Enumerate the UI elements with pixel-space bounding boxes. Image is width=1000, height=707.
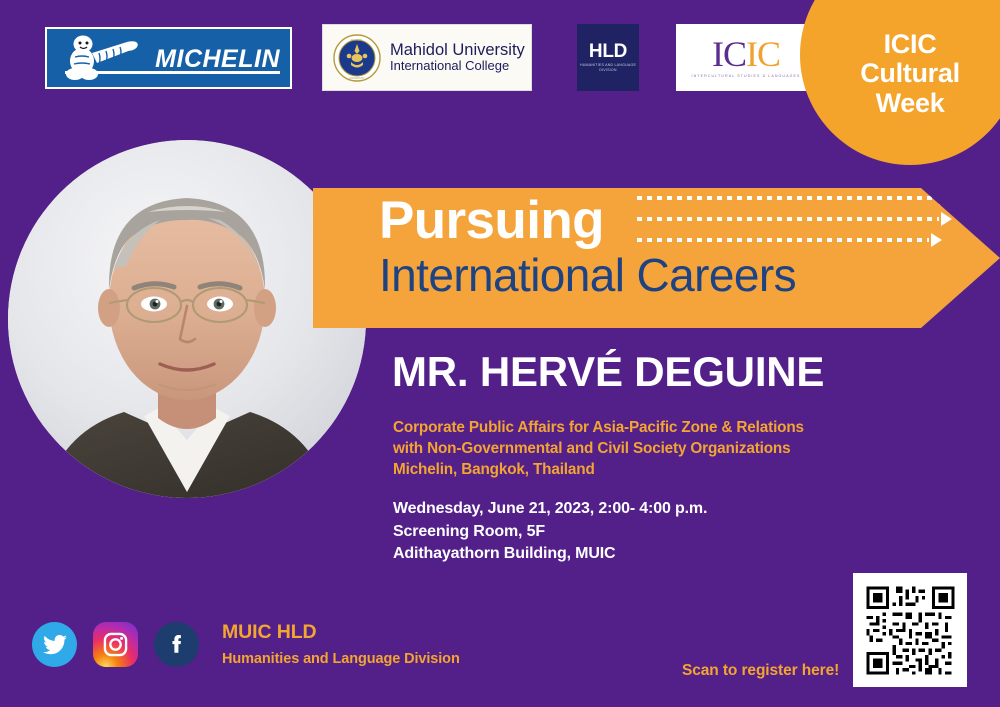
event-details: Wednesday, June 21, 2023, 2:00- 4:00 p.m… [393,498,707,566]
icic-wordmark: ICIC [712,37,780,71]
logo-hld: HLD HUMANITIES AND LANGUAGE DIVISION [577,24,639,91]
speaker-portrait [8,140,366,498]
social-link-facebook[interactable] [154,622,199,667]
dotted-arrow-icon-3 [931,233,942,247]
icic-wordmark-part2: IC [746,34,780,74]
social-link-instagram[interactable] [93,622,138,667]
mahidol-name-line1: Mahidol University [390,41,525,59]
michelin-wordmark: MICHELIN [155,45,280,74]
svg-text:MAHIDOL: MAHIDOL [351,38,363,42]
logo-icic: ICIC INTERCULTURAL STUDIES & LANGUAGES [676,24,816,91]
footer-text-block: MUIC HLD Humanities and Language Divisio… [222,622,460,667]
speaker-role-line2: with Non-Governmental and Civil Society … [393,439,804,460]
badge-line-3: Week [876,89,945,118]
badge-line-2: Cultural [860,59,960,88]
qr-code-card[interactable] [853,573,967,687]
logo-mahidol-university: MAHIDOL UNIVERSITY Mahidol University In… [322,24,532,91]
svg-text:UNIVERSITY: UNIVERSITY [349,76,365,80]
dotted-arrow-icon-1 [939,191,950,205]
icic-subtitle: INTERCULTURAL STUDIES & LANGUAGES [692,74,801,78]
dotted-line-2 [637,217,939,221]
banner-dotted-lines [637,196,947,259]
banner-title-primary: Pursuing [379,194,604,247]
twitter-bird-icon [42,632,68,658]
hld-subtitle: HUMANITIES AND LANGUAGE DIVISION [577,63,639,73]
icic-cultural-week-badge: ICIC Cultural Week [800,0,1000,165]
footer-division: Humanities and Language Division [222,651,460,667]
michelin-underline [65,71,280,74]
social-link-twitter[interactable] [32,622,77,667]
icic-wordmark-part1: IC [712,34,746,74]
logo-michelin: MICHELIN [45,27,292,89]
speaker-role-line3: Michelin, Bangkok, Thailand [393,460,804,481]
mahidol-name-line2: International College [390,59,525,74]
qr-code-icon [863,583,958,678]
speaker-role-line1: Corporate Public Affairs for Asia-Pacifi… [393,418,804,439]
footer-handle: MUIC HLD [222,622,460,643]
social-media-row: MUIC HLD Humanities and Language Divisio… [32,622,460,667]
michelin-man-bibendum-icon [61,35,139,83]
event-room: Screening Room, 5F [393,521,707,544]
title-banner: Pursuing International Careers [313,188,1000,328]
sponsor-logo-bar: MICHELIN MAHIDOL UNIVERSITY [0,0,1000,110]
event-poster: MICHELIN MAHIDOL UNIVERSITY [0,0,1000,707]
hld-wordmark: HLD [589,42,627,61]
speaker-name: MR. HERVÉ DEGUINE [392,351,824,393]
scan-to-register-label: Scan to register here! [682,662,839,680]
badge-line-1: ICIC [884,30,937,59]
dotted-line-3 [637,238,929,242]
mahidol-seal-icon: MAHIDOL UNIVERSITY [333,34,381,82]
facebook-f-icon [164,632,190,658]
speaker-role: Corporate Public Affairs for Asia-Pacifi… [393,418,804,481]
dotted-line-1 [637,196,937,200]
event-datetime: Wednesday, June 21, 2023, 2:00- 4:00 p.m… [393,498,707,521]
event-building: Adithayathorn Building, MUIC [393,543,707,566]
dotted-arrow-icon-2 [941,212,952,226]
portrait-illustration [8,140,366,498]
instagram-camera-icon [102,631,129,658]
